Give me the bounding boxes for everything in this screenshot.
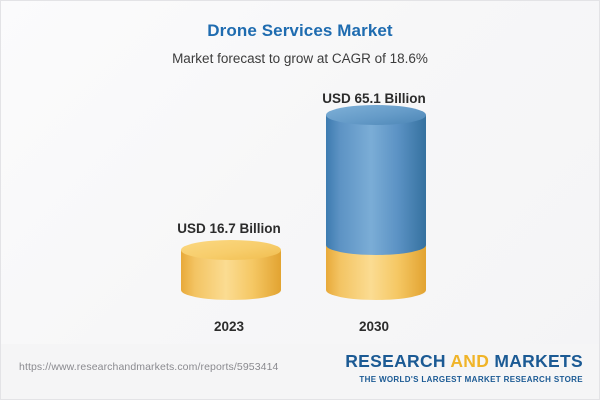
cylinder-2030[interactable] (324, 104, 428, 306)
chart-plot-area: USD 16.7 Billion (1, 1, 600, 346)
bar-category-label-2030: 2030 (359, 319, 389, 334)
logo-word-research: RESEARCH (345, 351, 446, 371)
research-and-markets-logo[interactable]: RESEARCH AND MARKETS THE WORLD'S LARGEST… (345, 353, 583, 384)
report-url-link[interactable]: https://www.researchandmarkets.com/repor… (19, 361, 278, 373)
bar-group-2023: USD 16.7 Billion (179, 251, 279, 306)
infographic-card: Drone Services Market Market forecast to… (0, 0, 600, 400)
logo-tagline: THE WORLD'S LARGEST MARKET RESEARCH STOR… (345, 375, 583, 384)
bar-group-2030: USD 65.1 Billion (324, 121, 424, 306)
footer: https://www.researchandmarkets.com/repor… (1, 344, 599, 399)
cylinder-2023[interactable] (179, 239, 283, 306)
logo-word-markets: MARKETS (494, 351, 583, 371)
logo-word-and: AND (450, 351, 489, 371)
logo-wordmark: RESEARCH AND MARKETS (345, 353, 583, 371)
bar-value-label-2023: USD 16.7 Billion (177, 221, 281, 236)
bar-category-label-2023: 2023 (214, 319, 244, 334)
